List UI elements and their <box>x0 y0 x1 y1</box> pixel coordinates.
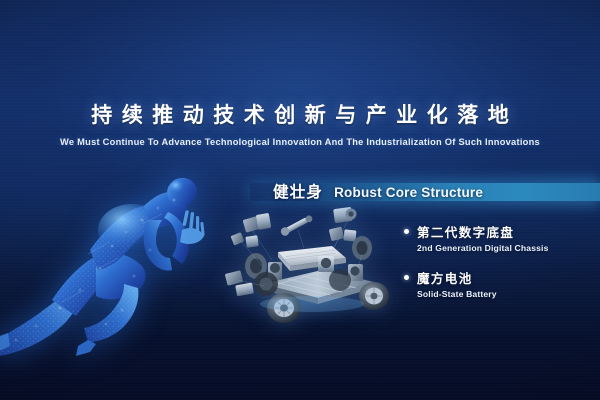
section-title-english: Robust Core Structure <box>334 185 483 200</box>
bullet-dot-icon <box>404 275 409 280</box>
feature-bullet-list: 第二代数字底盘 2nd Generation Digital Chassis 魔… <box>404 222 549 299</box>
bullet-english: 2nd Generation Digital Chassis <box>417 243 549 253</box>
section-title: 健壮身 Robust Core Structure <box>273 180 483 202</box>
bullet-english: Solid-State Battery <box>417 289 549 299</box>
headline-chinese: 持续推动技术创新与产业化落地 <box>0 103 600 128</box>
headline-block: 持续推动技术创新与产业化落地 We Must Continue To Advan… <box>0 103 600 147</box>
bullet-chinese: 魔方电池 <box>417 268 473 287</box>
presentation-slide: 持续推动技术创新与产业化落地 We Must Continue To Advan… <box>0 0 600 400</box>
ev-skateboard-chassis-exploded-view <box>222 200 394 330</box>
bullet-dot-icon <box>404 229 409 234</box>
list-item: 魔方电池 Solid-State Battery <box>404 268 549 299</box>
headline-english: We Must Continue To Advance Technologica… <box>0 137 600 147</box>
running-human-wireframe-figure <box>0 150 207 365</box>
bullet-chinese: 第二代数字底盘 <box>417 222 514 241</box>
list-item: 第二代数字底盘 2nd Generation Digital Chassis <box>404 222 549 253</box>
section-title-chinese: 健壮身 <box>273 180 323 202</box>
